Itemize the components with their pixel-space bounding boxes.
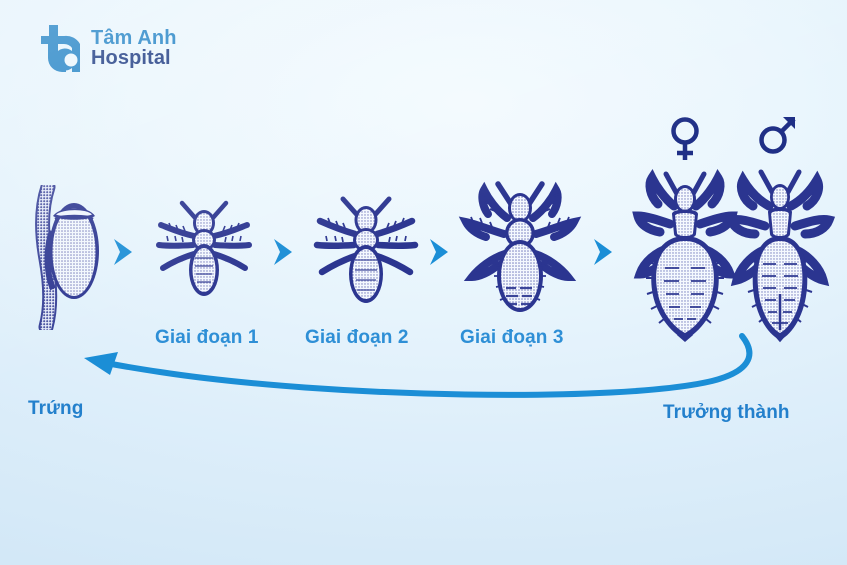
louse-nymph-stage-3-icon (452, 178, 588, 318)
louse-adult-female-icon (630, 168, 740, 343)
adult-female-art (630, 168, 740, 343)
male-symbol-icon (757, 113, 797, 159)
stage-label-nymph3: Giai đoạn 3 (460, 327, 564, 349)
louse-nymph-stage-2-icon (310, 190, 422, 310)
adult-male-art (725, 168, 835, 343)
louse-egg-on-hair-icon (22, 185, 108, 330)
stage-egg-art (22, 185, 108, 330)
stage-nymph3-art (452, 178, 588, 318)
stage-nymph2-art (310, 190, 422, 310)
brand-line-1: Tâm Anh (91, 28, 177, 48)
chevron-right-icon-2 (268, 235, 298, 269)
stage-label-nymph2: Giai đoạn 2 (305, 327, 409, 349)
louse-nymph-stage-1-icon (152, 192, 256, 304)
ta-logomark-icon (36, 22, 82, 74)
stage-nymph1-art (152, 192, 256, 304)
brand-wordmark: Tâm Anh Hospital (91, 28, 177, 69)
chevron-right-icon-4 (588, 235, 618, 269)
brand-logo: Tâm Anh Hospital (36, 22, 177, 74)
stage-label-nymph1: Giai đoạn 1 (155, 327, 259, 349)
stage-label-egg: Trứng (28, 398, 83, 420)
lice-life-cycle-infographic: Tâm Anh Hospital (0, 0, 847, 565)
chevron-right-icon-1 (108, 235, 138, 269)
brand-line-2: Hospital (91, 48, 177, 68)
chevron-right-icon-3 (424, 235, 454, 269)
louse-adult-male-icon (725, 168, 835, 343)
stage-label-adult: Trưởng thành (663, 402, 790, 424)
female-symbol-icon (665, 116, 705, 162)
